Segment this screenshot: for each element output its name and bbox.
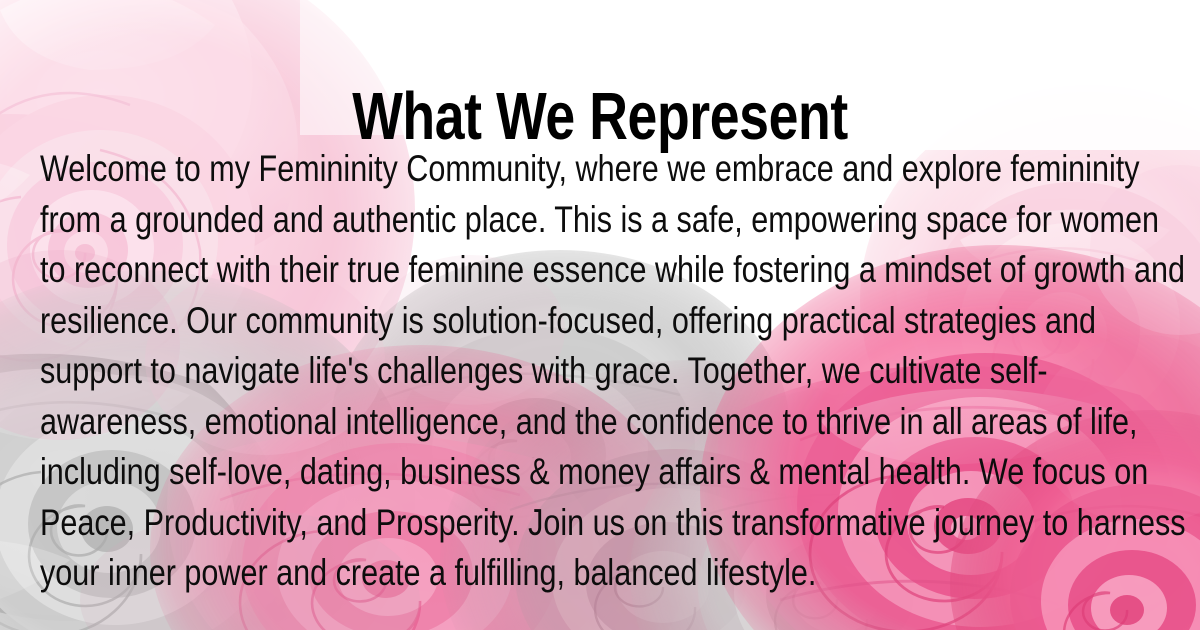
poster-canvas: What We Represent Welcome to my Feminini…	[0, 0, 1200, 630]
body-paragraph: Welcome to my Femininity Community, wher…	[40, 143, 1186, 598]
content-layer: What We Represent Welcome to my Feminini…	[0, 0, 1200, 630]
